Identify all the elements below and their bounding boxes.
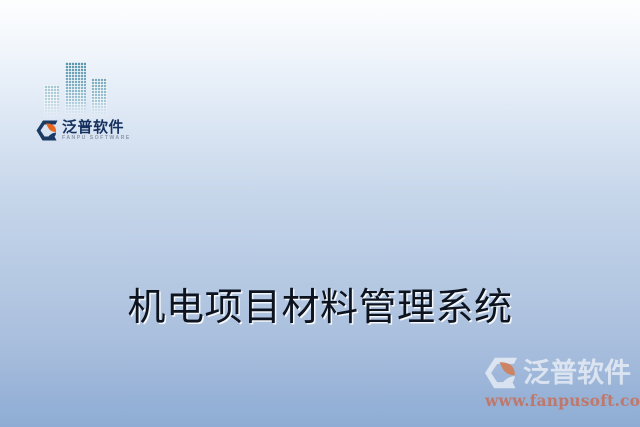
slide-canvas: 泛普软件 FANPU SOFTWARE 机电项目材料管理系统 哪个好用 泛普软件…: [0, 0, 640, 427]
mosaic-buildings-icon: [44, 62, 108, 118]
page-title-line-1: 机电项目材料管理系统: [0, 282, 640, 332]
building-bar-right: [91, 78, 107, 118]
fanpu-logo-icon: [36, 120, 58, 141]
watermark: 泛普软件 www.fanpusoft.com: [484, 357, 632, 415]
building-bar-center: [65, 62, 86, 118]
brand-lockup: 泛普软件 FANPU SOFTWARE: [36, 62, 156, 154]
brand-wordmark: 泛普软件 FANPU SOFTWARE: [36, 120, 131, 141]
brand-name-en: FANPU SOFTWARE: [62, 136, 131, 141]
fanpu-logo-icon: [484, 357, 518, 389]
watermark-brand-name: 泛普软件: [523, 360, 631, 387]
brand-name-cn: 泛普软件: [62, 120, 131, 135]
watermark-url: www.fanpusoft.com: [484, 391, 632, 410]
building-bar-left: [44, 85, 59, 118]
